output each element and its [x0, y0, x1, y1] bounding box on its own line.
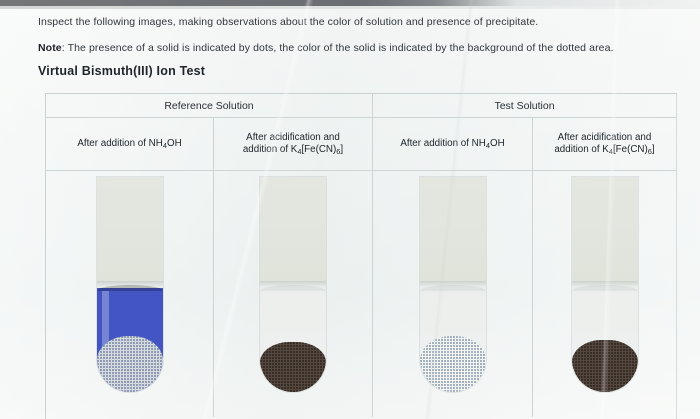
note-label: Note — [38, 42, 62, 54]
col2-text-b: [Fe(CN) — [301, 144, 336, 155]
tube-cell-3 — [373, 171, 533, 417]
col3-text-b: OH — [490, 138, 505, 149]
column-header-test-ferrocyanide: After acidification and addition of K4[F… — [533, 118, 676, 170]
note-text: : The presence of a solid is indicated b… — [62, 42, 614, 54]
col4-text-a: addition of K — [554, 144, 608, 155]
col2-text-a: addition of K — [243, 144, 297, 155]
col4-text-b: [Fe(CN) — [613, 144, 648, 155]
tube-2-precipitate — [260, 342, 326, 392]
test-tube-4 — [572, 177, 638, 392]
col2-text-c: ] — [340, 144, 343, 155]
col4-text-c: ] — [652, 144, 655, 155]
test-tube-1 — [97, 177, 163, 392]
tube-2-solution-surface — [260, 285, 326, 291]
column-header-test-nh4oh: After addition of NH4OH — [373, 118, 533, 170]
tube-3-precipitate-dots — [420, 336, 486, 392]
tube-4-precipitate-dots — [572, 340, 638, 392]
instruction-note-line: Note: The presence of a solid is indicat… — [38, 42, 614, 55]
tube-3-empty-upper — [420, 177, 486, 282]
col1-text-b: OH — [167, 138, 182, 149]
column-header-reference-ferrocyanide: After acidification and addition of K4[F… — [214, 118, 373, 170]
tube-4-solution-surface — [572, 285, 638, 291]
tube-1-empty-upper — [97, 177, 163, 282]
tube-1-precipitate-dots — [97, 336, 163, 392]
group-header-test-solution: Test Solution — [373, 94, 676, 117]
tube-cell-4 — [533, 171, 676, 417]
test-tube-2 — [260, 177, 326, 392]
group-header-reference-solution: Reference Solution — [46, 94, 373, 117]
tube-2-empty-upper — [260, 177, 326, 282]
table-tube-row — [46, 171, 676, 417]
screen-top-band-shadow — [0, 6, 700, 9]
column-header-reference-nh4oh: After addition of NH4OH — [46, 118, 214, 170]
tube-4-empty-upper — [572, 177, 638, 282]
tube-cell-2 — [214, 171, 373, 417]
table-group-header-row: Reference Solution Test Solution — [46, 94, 676, 118]
col3-text-a: After addition of NH — [400, 138, 486, 149]
test-tube-3 — [420, 177, 486, 392]
tube-3-solution-surface — [420, 285, 486, 291]
tube-4-precipitate — [572, 340, 638, 392]
instruction-line-1: Inspect the following images, making obs… — [38, 16, 538, 29]
tube-cell-1 — [46, 171, 214, 417]
col4-line1: After acidification and — [558, 132, 652, 143]
col1-text-a: After addition of NH — [77, 138, 163, 149]
table-column-header-row: After addition of NH4OH After acidificat… — [46, 118, 676, 171]
col2-line1: After acidification and — [246, 132, 340, 143]
tube-3-precipitate — [420, 336, 486, 392]
tube-2-precipitate-dots — [260, 342, 326, 392]
tube-1-precipitate — [97, 336, 163, 392]
observation-table: Reference Solution Test Solution After a… — [45, 93, 677, 419]
page-title: Virtual Bismuth(III) Ion Test — [38, 64, 205, 78]
